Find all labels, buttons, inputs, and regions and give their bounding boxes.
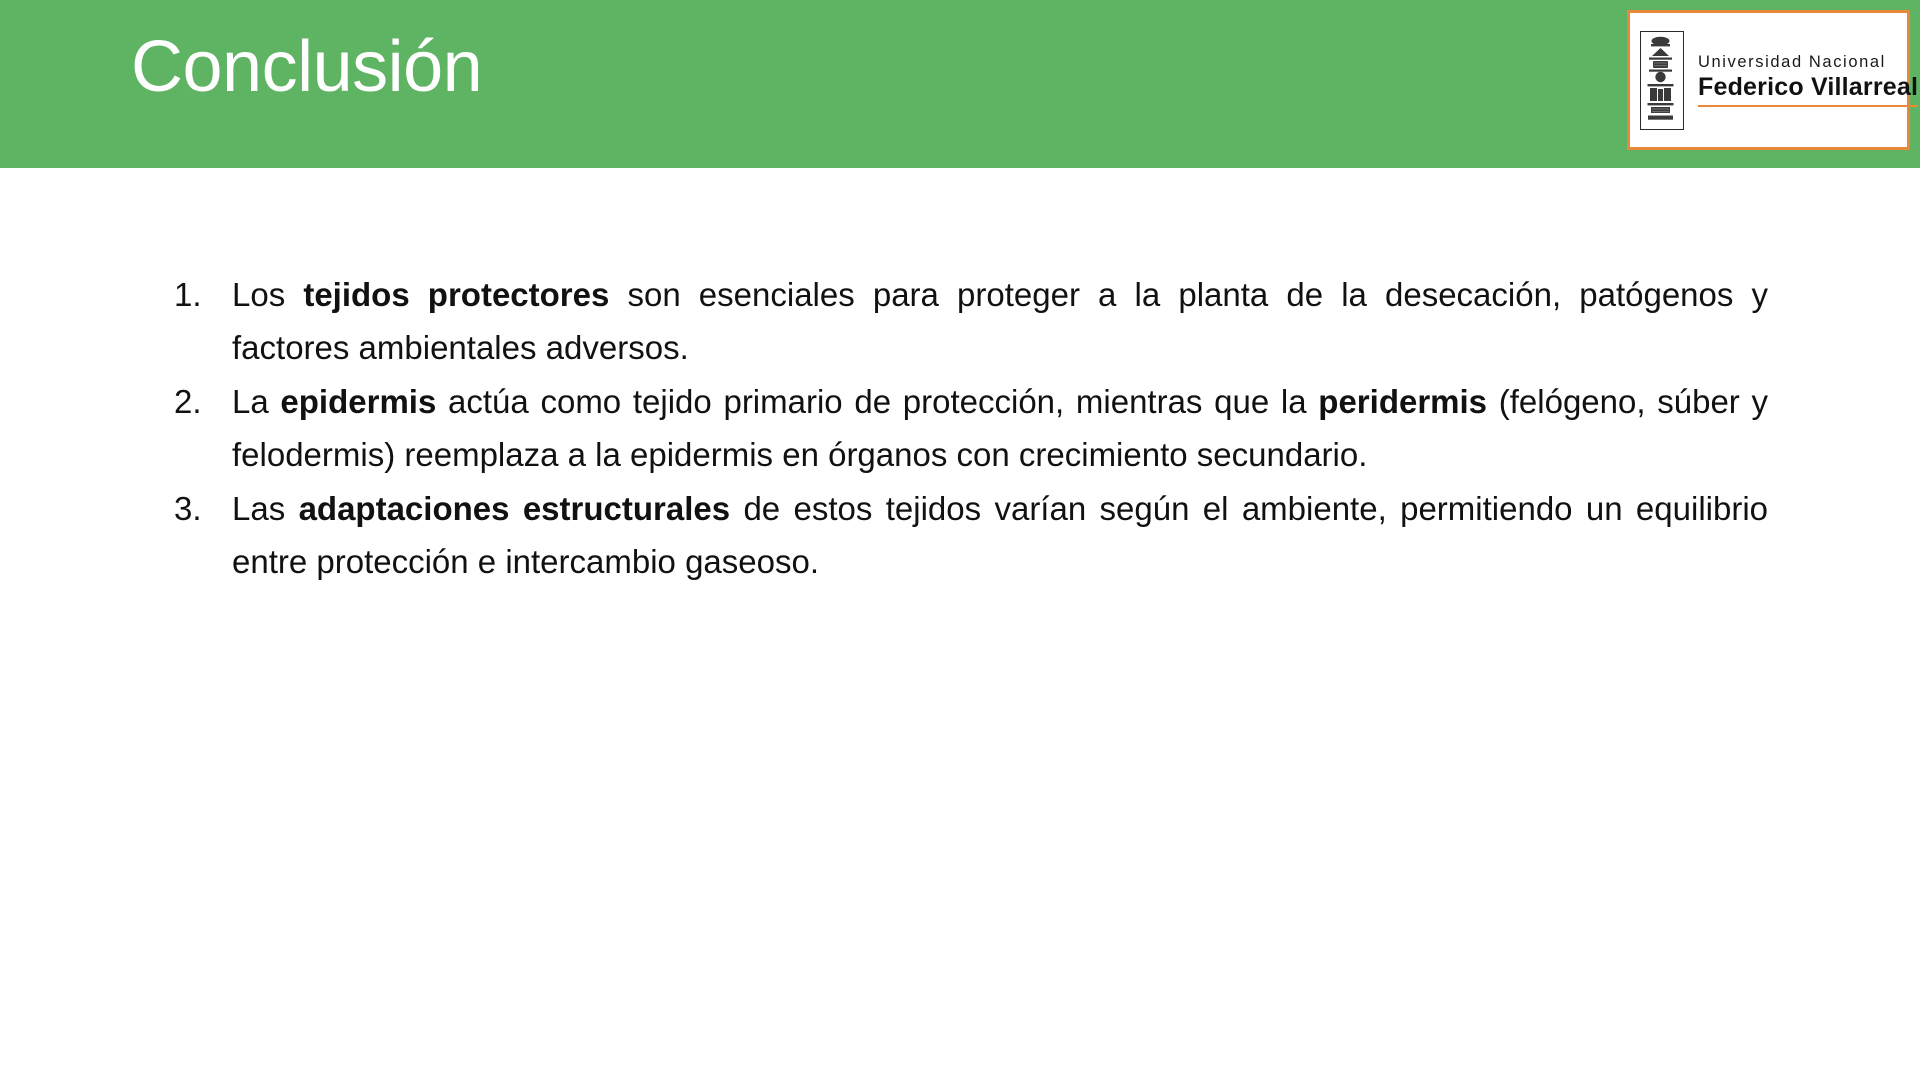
university-name-line1: Universidad Nacional [1698, 53, 1918, 72]
emphasis-text: tejidos protectores [303, 276, 609, 313]
list-item-marker: 3. [174, 482, 220, 535]
emphasis-text: epidermis [280, 383, 436, 420]
list-item: 3.Las adaptaciones estructurales de esto… [168, 482, 1768, 589]
emphasis-text: adaptaciones estructurales [299, 490, 731, 527]
list-item-marker: 2. [174, 375, 220, 428]
university-crest-icon [1640, 31, 1684, 130]
university-logo-text: Universidad Nacional Federico Villarreal [1698, 53, 1918, 107]
list-item-text: Las adaptaciones estructurales de estos … [232, 490, 1768, 580]
slide-header: Conclusión [0, 0, 1920, 168]
conclusion-list: 1.Los tejidos protectores son esenciales… [168, 268, 1768, 589]
body-text: actúa como tejido primario de protección… [436, 383, 1318, 420]
emphasis-text: peridermis [1318, 383, 1487, 420]
list-item-marker: 1. [174, 268, 220, 321]
list-item: 1.Los tejidos protectores son esenciales… [168, 268, 1768, 375]
logo-underline [1698, 105, 1918, 107]
body-text: Los [232, 276, 303, 313]
page-title: Conclusión [131, 22, 482, 112]
university-name-line2: Federico Villarreal [1698, 73, 1918, 102]
list-item: 2.La epidermis actúa como tejido primari… [168, 375, 1768, 482]
list-item-text: Los tejidos protectores son esenciales p… [232, 276, 1768, 366]
body-text: Las [232, 490, 299, 527]
body-text: La [232, 383, 280, 420]
university-logo: Universidad Nacional Federico Villarreal [1627, 10, 1910, 150]
list-item-text: La epidermis actúa como tejido primario … [232, 383, 1768, 473]
